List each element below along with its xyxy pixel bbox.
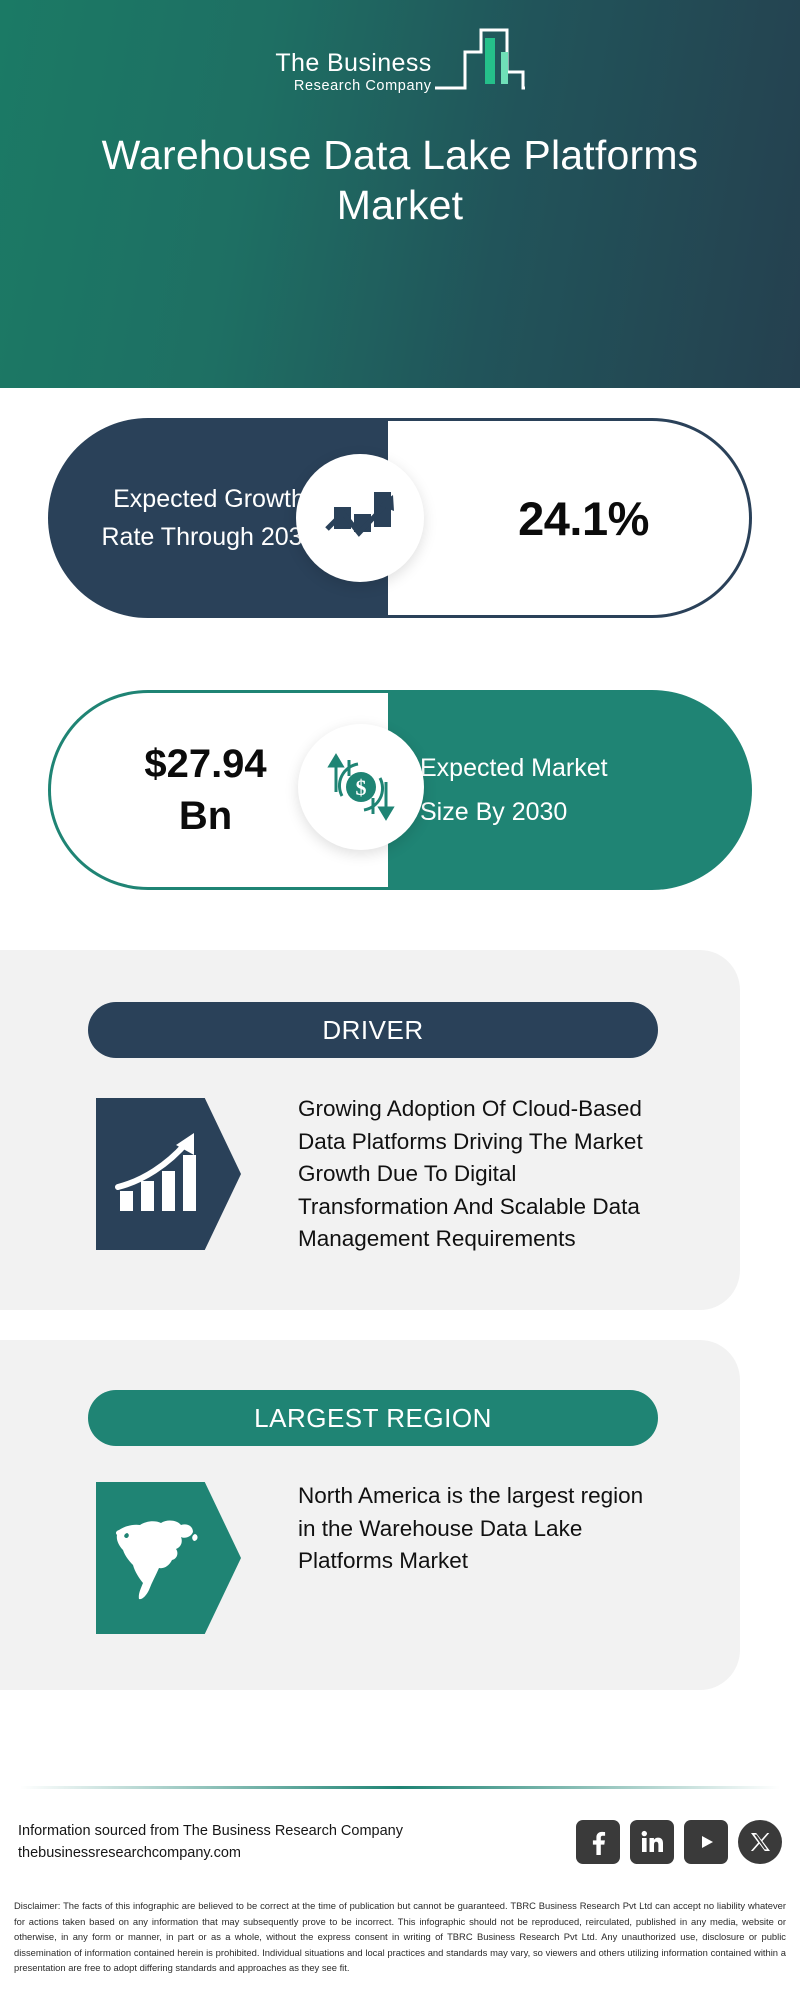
page-title: Warehouse Data Lake Platforms Market xyxy=(60,130,740,230)
footer-source: Information sourced from The Business Re… xyxy=(18,1820,403,1864)
stat-card-label-panel: Expected Market Size By 2030 xyxy=(388,690,752,890)
stat-value-line-1: $27.94 xyxy=(106,738,306,790)
dollar-cycle-icon: $ xyxy=(298,724,424,850)
facebook-icon[interactable] xyxy=(576,1820,620,1864)
footer-divider xyxy=(20,1786,780,1789)
stat-value: $27.94 Bn xyxy=(106,738,306,842)
svg-text:$: $ xyxy=(356,775,367,800)
stat-label: Expected Growth Rate Through 2030 xyxy=(94,480,324,556)
x-twitter-icon[interactable] xyxy=(738,1820,782,1864)
linkedin-icon[interactable] xyxy=(630,1820,674,1864)
driver-heading-pill: DRIVER xyxy=(88,1002,658,1058)
stat-card-growth-rate: Expected Growth Rate Through 2030 24.1% xyxy=(48,418,752,618)
logo-line-2: Research Company xyxy=(275,77,431,95)
stat-card-value-panel: 24.1% xyxy=(388,418,752,618)
region-heading-label: LARGEST REGION xyxy=(254,1403,492,1434)
bar-growth-arrow-icon xyxy=(96,1098,241,1250)
largest-region-panel: LARGEST REGION North America is the larg… xyxy=(0,1340,740,1690)
stat-label: Expected Market Size By 2030 xyxy=(420,746,650,834)
social-links xyxy=(576,1820,782,1864)
region-heading-pill: LARGEST REGION xyxy=(88,1390,658,1446)
footer-source-line: Information sourced from The Business Re… xyxy=(18,1820,403,1842)
company-logo: The Business Research Company xyxy=(0,22,800,99)
stat-value: 24.1% xyxy=(518,491,649,546)
growth-chart-icon xyxy=(296,454,424,582)
bar-chart-logo-mark xyxy=(433,22,525,99)
stat-card-market-size: $27.94 Bn Expected Market Size By 2030 $ xyxy=(48,690,752,890)
disclaimer-text: Disclaimer: The facts of this infographi… xyxy=(14,1898,786,1976)
driver-panel: DRIVER Growing Adoption Of Cloud-Based D… xyxy=(0,950,740,1310)
infographic-page: The Business Research Company Warehouse … xyxy=(0,0,800,2000)
stat-value-line-2: Bn xyxy=(106,790,306,842)
north-america-map-icon xyxy=(96,1482,241,1634)
footer-website[interactable]: thebusinessresearchcompany.com xyxy=(18,1842,403,1864)
logo-line-1: The Business xyxy=(275,50,431,77)
region-body-text: North America is the largest region in t… xyxy=(298,1480,650,1578)
logo-text: The Business Research Company xyxy=(275,50,431,99)
driver-body-text: Growing Adoption Of Cloud-Based Data Pla… xyxy=(298,1093,650,1256)
youtube-icon[interactable] xyxy=(684,1820,728,1864)
driver-heading-label: DRIVER xyxy=(322,1015,423,1046)
header-banner: The Business Research Company Warehouse … xyxy=(0,0,800,388)
